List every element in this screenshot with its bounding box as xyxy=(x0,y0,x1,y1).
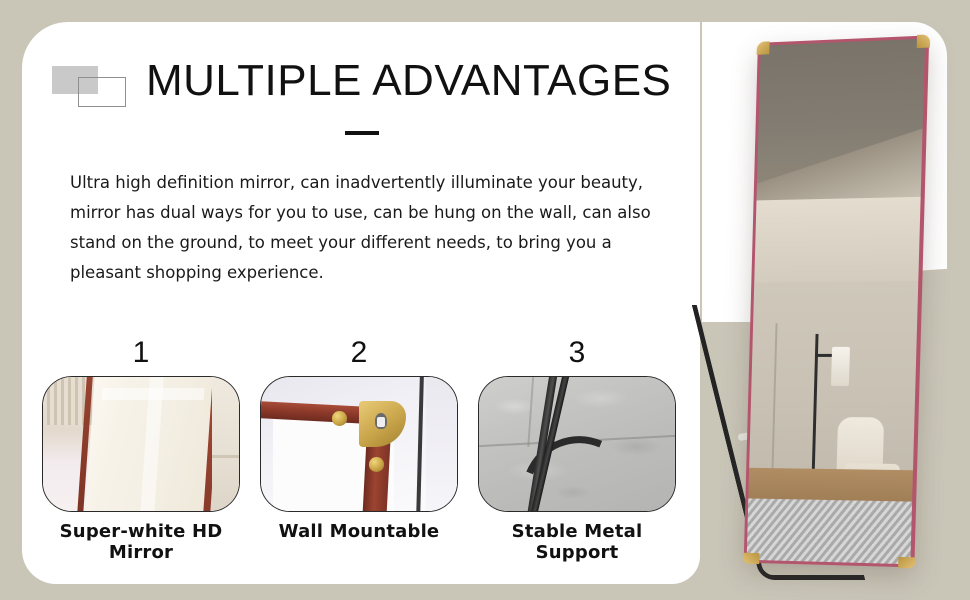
feature-thumbnail-corner-bracket xyxy=(260,376,458,512)
feature-caption: Wall Mountable xyxy=(258,521,460,542)
feature-caption: Super-white HD Mirror xyxy=(40,521,242,563)
decor-rect-outlined xyxy=(78,77,126,107)
decor-rectangles-icon xyxy=(52,66,126,106)
features-row: 1 Super-white HD Mirror 2 xyxy=(40,338,680,558)
title-divider xyxy=(345,131,379,135)
poster-stage: MULTIPLE ADVANTAGES Ultra high definitio… xyxy=(0,0,970,600)
feature-item-3: 3 Stable Metal Support xyxy=(476,338,678,563)
hero-product-image xyxy=(690,40,970,600)
corner-cap-icon xyxy=(757,41,770,54)
feature-number: 2 xyxy=(258,338,460,370)
feature-number: 3 xyxy=(476,338,678,370)
feature-number: 1 xyxy=(40,338,242,370)
feature-thumbnail-metal-stand xyxy=(478,376,676,512)
corner-cap-icon xyxy=(917,34,931,48)
screw-icon xyxy=(332,411,348,426)
feature-item-2: 2 Wall Mountable xyxy=(258,338,460,542)
striped-rug-reflection xyxy=(747,498,925,564)
corner-cap-icon xyxy=(898,557,916,569)
description-paragraph: Ultra high definition mirror, can inadve… xyxy=(70,168,655,288)
mirror-glass xyxy=(747,39,925,565)
feature-caption: Stable Metal Support xyxy=(476,521,678,563)
page-title: MULTIPLE ADVANTAGES xyxy=(146,56,671,106)
feature-item-1: 1 Super-white HD Mirror xyxy=(40,338,242,563)
corner-cap-icon xyxy=(743,553,760,564)
standing-mirror xyxy=(744,35,930,567)
feature-thumbnail-mirror xyxy=(42,376,240,512)
